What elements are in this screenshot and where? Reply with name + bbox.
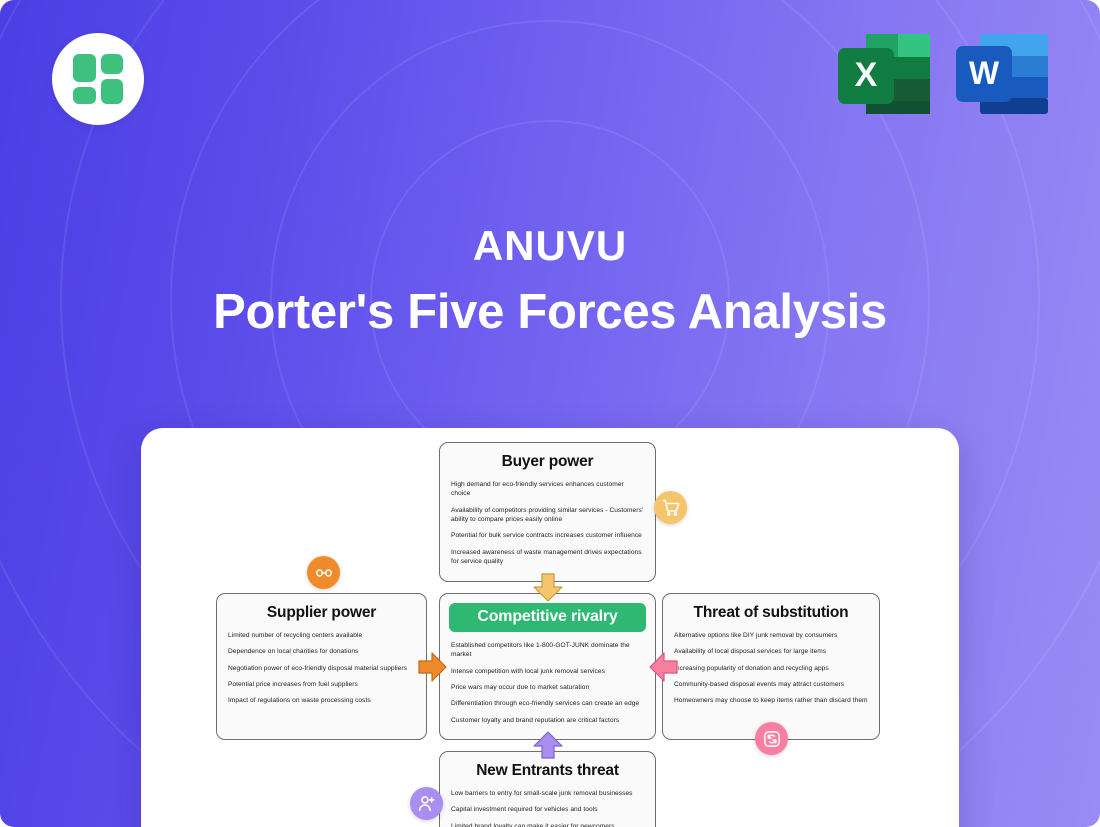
list-item: Customer loyalty and brand reputation ar…	[451, 716, 644, 725]
list-item: Limited brand loyalty can make it easier…	[451, 822, 644, 827]
poster-canvas: X W ANUVU Porter's Five Forces Analysis	[0, 0, 1100, 827]
add-user-icon	[417, 794, 436, 813]
card-buyer-power[interactable]: Buyer power High demand for eco-friendly…	[439, 442, 656, 582]
card-title-supplier-power: Supplier power	[228, 604, 415, 622]
brand-name: ANUVU	[0, 222, 1100, 270]
poster-heading: ANUVU Porter's Five Forces Analysis	[0, 222, 1100, 341]
list-item: Intense competition with local junk remo…	[451, 667, 644, 676]
card-title-new-entrants-threat: New Entrants threat	[451, 762, 644, 780]
list-item: Differentiation through eco-friendly ser…	[451, 699, 644, 708]
list-item: Potential price increases from fuel supp…	[228, 680, 415, 689]
word-letter: W	[969, 55, 1000, 91]
list-item: Capital investment required for vehicles…	[451, 805, 644, 814]
list-item: Established competitors like 1-800-GOT-J…	[451, 641, 644, 660]
badge-new-entrants-threat[interactable]	[410, 787, 443, 820]
card-title-threat-of-substitution: Threat of substitution	[674, 604, 868, 622]
bullets-competitive-rivalry: Established competitors like 1-800-GOT-J…	[451, 641, 644, 725]
list-item: Increased awareness of waste management …	[451, 548, 644, 567]
list-item: Homeowners may choose to keep items rath…	[674, 696, 868, 705]
badge-threat-of-substitution[interactable]	[755, 722, 788, 755]
list-item: Limited number of recycling centers avai…	[228, 631, 415, 640]
badge-buyer-power[interactable]	[654, 491, 687, 524]
refresh-sync-icon	[763, 730, 781, 748]
list-item: Price wars may occur due to market satur…	[451, 683, 644, 692]
bullets-threat-of-substitution: Alternative options like DIY junk remova…	[674, 631, 868, 706]
page-title: Porter's Five Forces Analysis	[0, 284, 1100, 340]
card-title-competitive-rivalry: Competitive rivalry	[449, 603, 646, 632]
list-item: Dependence on local charities for donati…	[228, 647, 415, 656]
list-item: Community-based disposal events may attr…	[674, 680, 868, 689]
porters-five-forces-diagram: Buyer power High demand for eco-friendly…	[141, 428, 959, 827]
list-item: Impact of regulations on waste processin…	[228, 696, 415, 705]
list-item: Alternative options like DIY junk remova…	[674, 631, 868, 640]
excel-letter: X	[855, 56, 878, 94]
office-app-icons: X W	[834, 30, 1052, 118]
link-chain-icon	[315, 564, 333, 582]
diagram-sheet: Buyer power High demand for eco-friendly…	[141, 428, 959, 827]
shopping-cart-icon	[662, 499, 680, 517]
word-icon[interactable]: W	[952, 30, 1052, 118]
list-item: Availability of competitors providing si…	[451, 506, 644, 525]
badge-supplier-power[interactable]	[307, 556, 340, 589]
card-title-buyer-power: Buyer power	[451, 453, 644, 471]
grid-logo-icon	[73, 54, 123, 104]
list-item: Negotiation power of eco-friendly dispos…	[228, 664, 415, 673]
list-item: High demand for eco-friendly services en…	[451, 480, 644, 499]
card-threat-of-substitution[interactable]: Threat of substitution Alternative optio…	[662, 593, 880, 740]
bullets-buyer-power: High demand for eco-friendly services en…	[451, 480, 644, 567]
excel-icon[interactable]: X	[834, 30, 934, 118]
list-item: Availability of local disposal services …	[674, 647, 868, 656]
brand-logo	[52, 33, 144, 125]
card-supplier-power[interactable]: Supplier power Limited number of recycli…	[216, 593, 427, 740]
list-item: Increasing popularity of donation and re…	[674, 664, 868, 673]
bullets-new-entrants-threat: Low barriers to entry for small-scale ju…	[451, 789, 644, 827]
card-competitive-rivalry[interactable]: Competitive rivalry Established competit…	[439, 593, 656, 740]
bullets-supplier-power: Limited number of recycling centers avai…	[228, 631, 415, 706]
list-item: Potential for bulk service contracts inc…	[451, 531, 644, 540]
list-item: Low barriers to entry for small-scale ju…	[451, 789, 644, 798]
card-new-entrants-threat[interactable]: New Entrants threat Low barriers to entr…	[439, 751, 656, 827]
